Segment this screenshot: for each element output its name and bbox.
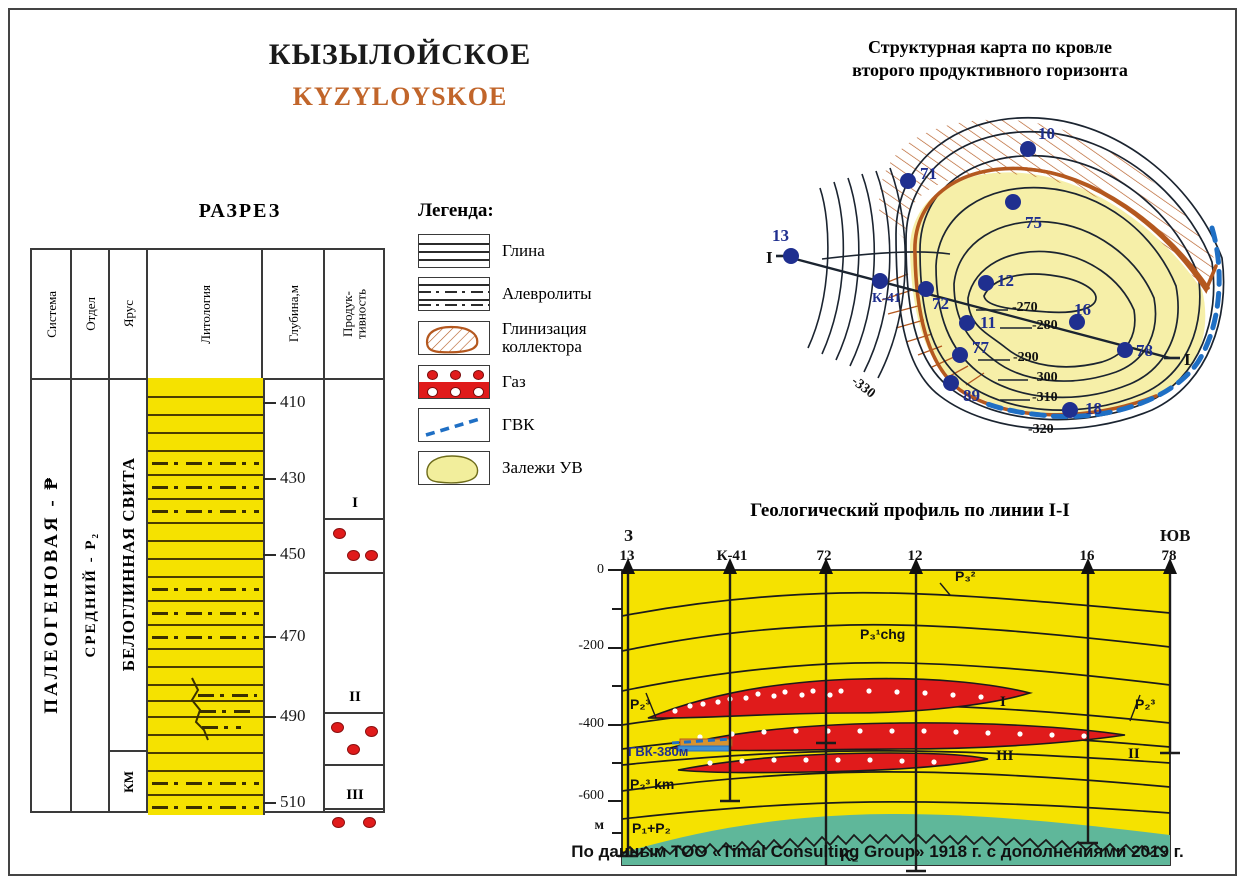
stratigraphic-column-table: Система Отдел Ярус Литология Глубина,м П…	[30, 248, 385, 813]
geological-profile: Геологический профиль по линии I-I З ЮВ …	[560, 498, 1235, 873]
legend-item-gwc: ГВК	[418, 408, 633, 442]
gas-cell-II	[325, 714, 385, 766]
legend-item-gas: Газ	[418, 365, 633, 399]
legend-item-hc-deposit: Залежи УВ	[418, 451, 633, 485]
well-label-75: 75	[1025, 213, 1042, 233]
header-depth: Глубина,м	[263, 250, 325, 378]
header-department: Отдел	[72, 250, 110, 378]
source-footer: По данным ТОО «Timal Consulting Group» 1…	[520, 842, 1235, 862]
structural-map: Структурная карта по кровле второго прод…	[760, 28, 1230, 448]
legend: Легенда: Глина Алевролиты	[418, 200, 633, 494]
well-marker-75	[1005, 194, 1021, 210]
well-label-71: 71	[920, 164, 937, 184]
contour-label--300: -300	[1032, 370, 1058, 386]
gwc-label-profile: ГВК-380м	[628, 744, 688, 759]
well-label-77: 77	[972, 338, 989, 358]
well-marker-11	[959, 315, 975, 331]
well-marker-18	[1062, 402, 1078, 418]
contour-label--280: -280	[1032, 318, 1058, 334]
well-label-13: 13	[772, 226, 789, 246]
well-label-12: 12	[997, 271, 1014, 291]
geology-figure-page: КЫЗЫЛОЙСКОЕ KYZYLOYSKOE РАЗРЕЗ Система О…	[0, 0, 1247, 886]
unit-label-P23-left: P₂³	[630, 696, 650, 712]
row-stage-km-label: КМ	[110, 750, 148, 811]
well-label-18: 18	[1085, 399, 1102, 419]
contour-label--270: -270	[1012, 300, 1038, 316]
legend-title: Легенда:	[418, 200, 633, 222]
depth-tick-510: 510	[280, 792, 306, 812]
section-heading-razrez: РАЗРЕЗ	[100, 200, 380, 223]
gas-swatch-icon	[418, 365, 490, 399]
well-label-78: 78	[1136, 341, 1153, 361]
gas-cell-III	[325, 810, 385, 836]
productivity-seg-II: II	[325, 574, 385, 714]
contour-label--310: -310	[1032, 390, 1058, 406]
contour-label--290: -290	[1013, 350, 1039, 366]
well-label-16: 16	[1074, 300, 1091, 320]
lithology-pattern	[148, 378, 265, 815]
well-marker-89	[943, 375, 959, 391]
depth-tick-430: 430	[280, 468, 306, 488]
structural-map-canvas	[760, 28, 1230, 448]
well-marker-K41	[872, 273, 888, 289]
section-label-I-right: I	[1184, 350, 1191, 370]
clayification-swatch-icon	[418, 321, 490, 355]
well-marker-10	[1020, 141, 1036, 157]
unit-label-P23-right: P₂³	[1135, 696, 1155, 712]
clayification-zigzag-icon	[148, 378, 263, 815]
profile-horizon-I: I	[1000, 694, 1006, 711]
legend-label-gas: Газ	[502, 373, 526, 391]
header-lithology: Литология	[148, 250, 263, 378]
row-department-label: СРЕДНИЙ - Р₂	[72, 378, 110, 811]
well-marker-71	[900, 173, 916, 189]
header-stage: Ярус	[110, 250, 148, 378]
legend-item-clayification: Глинизация коллектора	[418, 320, 633, 356]
page-subtitle-latin: KYZYLOYSKOE	[150, 82, 650, 112]
well-marker-77	[952, 347, 968, 363]
well-label-10: 10	[1038, 124, 1055, 144]
legend-item-siltstone: Алевролиты	[418, 277, 633, 311]
well-label-K41: К-41	[872, 291, 901, 307]
depth-tick-450: 450	[280, 544, 306, 564]
legend-label-clay: Глина	[502, 242, 545, 260]
legend-label-siltstone: Алевролиты	[502, 285, 592, 303]
well-marker-12	[978, 275, 994, 291]
horizon-label-III: III	[325, 787, 385, 804]
unit-label-P1P2: P₁+P₂	[632, 820, 671, 836]
depth-axis: 410 430 450 470 490 510	[263, 378, 325, 815]
productivity-column: I II III	[325, 378, 385, 815]
depth-tick-490: 490	[280, 706, 306, 726]
profile-horizon-III: III	[996, 748, 1014, 765]
well-marker-13	[783, 248, 799, 264]
unit-label-P23km: P₂³ km	[630, 776, 674, 792]
horizon-label-I: I	[325, 495, 385, 512]
legend-item-clay: Глина	[418, 234, 633, 268]
well-label-11: 11	[980, 313, 996, 333]
depth-tick-410: 410	[280, 392, 306, 412]
well-label-72: 72	[932, 294, 949, 314]
well-marker-78	[1117, 342, 1133, 358]
row-system-label: ПАЛЕОГЕНОВАЯ - ₱	[32, 378, 72, 811]
legend-label-gwc: ГВК	[502, 416, 535, 434]
header-productivity-line2: тивность	[354, 289, 369, 339]
hc-deposit-swatch-icon	[418, 451, 490, 485]
gwc-swatch-icon	[418, 408, 490, 442]
siltstone-swatch-icon	[418, 277, 490, 311]
well-label-89: 89	[963, 386, 980, 406]
productivity-seg-III: III	[325, 766, 385, 810]
gas-cell-I	[325, 520, 385, 574]
legend-label-hc-deposit: Залежи УВ	[502, 459, 583, 477]
page-title: КЫЗЫЛОЙСКОЕ	[150, 38, 650, 72]
horizon-label-II: II	[325, 689, 385, 706]
contour-label--320: -320	[1028, 422, 1054, 438]
header-system: Система	[32, 250, 72, 378]
unit-label-P31chg: P₃¹chg	[860, 626, 905, 642]
profile-title: Геологический профиль по линии I-I	[620, 500, 1200, 522]
productivity-seg-I: I	[325, 378, 385, 520]
profile-horizon-II: II	[1128, 746, 1140, 763]
header-productivity: Продук- тивность	[325, 250, 385, 378]
row-stage-label: БЕЛОГЛИННАЯ СВИТА	[110, 378, 148, 750]
section-label-I-left: I	[766, 248, 773, 268]
depth-tick-470: 470	[280, 626, 306, 646]
unit-label-P32: P₃²	[955, 568, 975, 584]
legend-label-clayification: Глинизация коллектора	[502, 320, 587, 356]
profile-axis-ticks	[608, 570, 622, 833]
clay-swatch-icon	[418, 234, 490, 268]
